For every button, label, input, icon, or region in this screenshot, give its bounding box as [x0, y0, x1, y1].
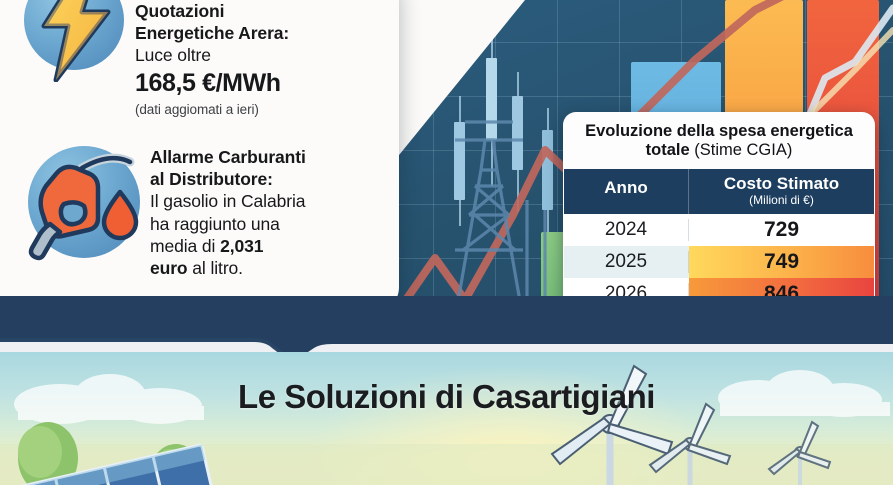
bottom-section-title: Le Soluzioni di Casartigiani	[0, 378, 893, 416]
fact-fuel-title-line2: al Distributore:	[150, 169, 273, 189]
table-row: 2025 749	[564, 246, 874, 278]
table-cell-year: 2025	[564, 251, 689, 273]
table-cell-cost: 749	[689, 246, 874, 278]
table-header-row: Anno Costo Stimato (Milioni di €)	[564, 169, 874, 214]
table-row: 2024 729	[564, 214, 874, 246]
table-col-cost: Costo Stimato (Milioni di €)	[689, 169, 874, 214]
fact-electricity-note: (dati aggiomati a ieri)	[135, 101, 289, 118]
fact-fuel-body-line1: Il gasolio in Calabria	[150, 191, 305, 211]
fact-fuel-price-value: 2,031	[220, 236, 263, 256]
energy-cost-table: Evoluzione della spesa energetica totale…	[563, 112, 875, 311]
fact-fuel-body-line2: ha raggiunto una	[150, 214, 280, 234]
fact-electricity-title-line2: Energetiche Arera:	[135, 23, 289, 43]
fact-fuel: Allarme Carburanti al Distributore: Il g…	[20, 138, 390, 279]
infographic-canvas: Quotazioni Energetiche Arera: Luce oltre…	[0, 0, 893, 485]
table-cell-year: 2024	[564, 219, 689, 241]
stats-card: Quotazioni Energetiche Arera: Luce oltre…	[0, 0, 399, 315]
fact-fuel-title-line1: Allarme Carburanti	[150, 147, 306, 167]
table-col-cost-label: Costo Stimato	[724, 174, 839, 193]
fact-electricity: Quotazioni Energetiche Arera: Luce oltre…	[20, 0, 380, 119]
table-col-cost-unit: (Milioni di €)	[693, 194, 870, 207]
section-divider-notch	[0, 296, 893, 360]
table-col-year: Anno	[564, 169, 689, 214]
table-title: Evoluzione della spesa energetica totale…	[564, 113, 874, 169]
renewable-energy-scene	[0, 352, 893, 485]
fact-fuel-body-line3: media di	[150, 236, 220, 256]
fact-electricity-body: Luce oltre	[135, 45, 211, 65]
table-title-normal: (Stime CGIA)	[690, 141, 793, 159]
fact-fuel-body-tail: al litro.	[188, 258, 243, 278]
bottom-section: Le Soluzioni di Casartigiani	[0, 352, 893, 485]
fact-electricity-title-line1: Quotazioni	[135, 1, 224, 21]
fact-electricity-value: 168,5 €/MWh	[135, 68, 289, 100]
fact-fuel-currency: euro	[150, 258, 188, 278]
table-cell-cost: 729	[689, 214, 874, 246]
